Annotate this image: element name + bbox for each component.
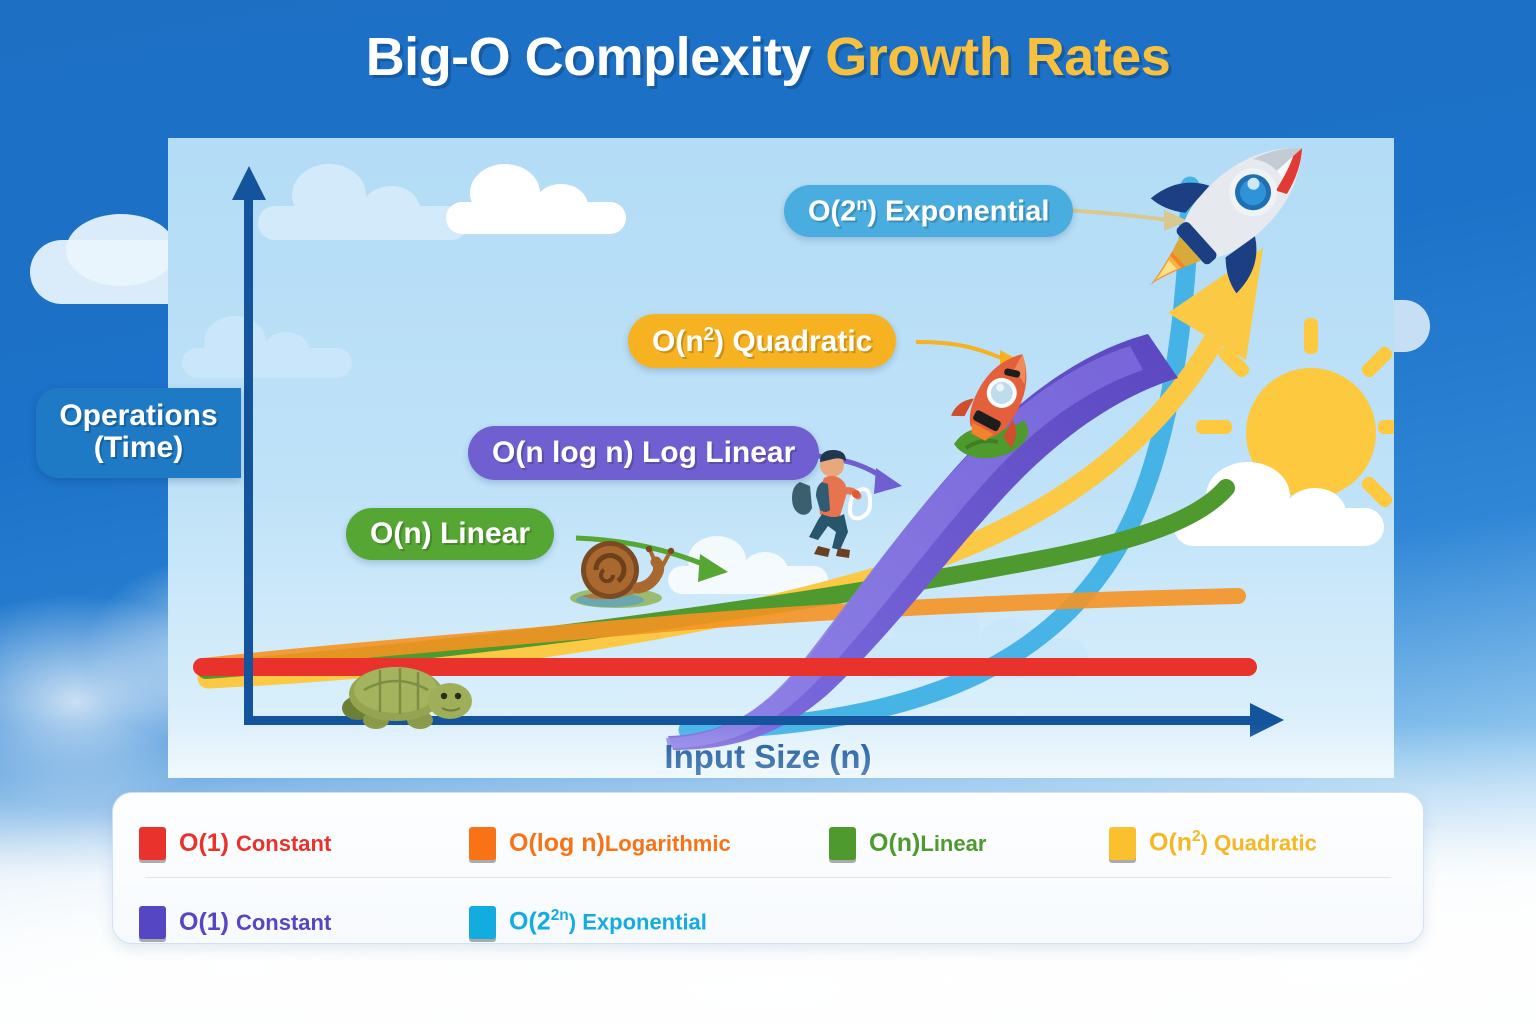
infographic-root: Big-O Complexity Growth Rates (0, 0, 1536, 1024)
legend-swatch-constant-purple (139, 906, 166, 939)
chart-panel: O(2n) Exponential O(n2) Quadratic O(n lo… (168, 138, 1394, 778)
callout-loglinear[interactable]: O(n log n) Log Linear (468, 426, 819, 480)
legend-item-constant-red[interactable]: O(1) Constant (139, 827, 469, 860)
legend-item-exponential[interactable]: O(22n) Exponential (469, 906, 707, 939)
legend-swatch-logarithmic (469, 827, 496, 860)
legend-item-constant-purple[interactable]: O(1) Constant (139, 906, 469, 939)
legend-row: O(1) Constant O(22n) Exponential (139, 894, 1397, 950)
title-main: Big-O Complexity (366, 27, 826, 87)
legend-swatch-constant-red (139, 827, 166, 860)
legend-label-exponential: O(22n) Exponential (509, 907, 707, 936)
legend-item-linear[interactable]: O(n)Linear (829, 827, 1109, 860)
legend-swatch-exponential (469, 906, 496, 939)
legend-swatch-quadratic (1109, 827, 1136, 860)
snail-icon (564, 530, 690, 610)
legend-swatch-linear (829, 827, 856, 860)
legend-label-linear: O(n)Linear (869, 829, 986, 858)
legend-item-quadratic[interactable]: O(n2) Quadratic (1109, 827, 1317, 860)
callout-quadratic-label: O(n2) Quadratic (652, 323, 872, 359)
up-arrow-icon (232, 166, 266, 200)
x-axis-label: Input Size (n) (0, 738, 1536, 776)
small-rocket-icon (936, 340, 1060, 464)
legend-label-quadratic: O(n2) Quadratic (1149, 828, 1317, 857)
background-cloud (66, 214, 176, 286)
callout-linear-label: O(n) Linear (370, 517, 530, 551)
legend-label-logarithmic: O(log n)Logarithmic (509, 829, 731, 858)
legend-panel: O(1) Constant O(log n)Logarithmic O(n)Li… (112, 792, 1424, 944)
legend-divider (145, 877, 1391, 878)
callout-loglinear-label: O(n log n) Log Linear (492, 436, 795, 470)
y-axis-label-line2: (Time) (54, 432, 223, 464)
legend-label-constant-purple: O(1) Constant (179, 908, 331, 937)
page-title: Big-O Complexity Growth Rates (0, 26, 1536, 88)
legend-item-logarithmic[interactable]: O(log n)Logarithmic (469, 827, 829, 860)
right-arrow-icon (1250, 703, 1284, 737)
y-axis-label-line1: Operations (54, 400, 223, 432)
legend-label-constant-red: O(1) Constant (179, 829, 331, 858)
callout-linear[interactable]: O(n) Linear (346, 508, 554, 560)
turtle-icon (328, 654, 478, 730)
title-accent: Growth Rates (825, 27, 1170, 87)
callout-exponential-label: O(2n) Exponential (808, 194, 1049, 229)
rocket-icon (1120, 138, 1340, 328)
legend-row: O(1) Constant O(log n)Logarithmic O(n)Li… (139, 815, 1397, 871)
callout-quadratic[interactable]: O(n2) Quadratic (628, 314, 896, 368)
y-axis-line (244, 196, 253, 724)
callout-exponential[interactable]: O(2n) Exponential (784, 185, 1073, 237)
y-axis-label: Operations (Time) (36, 388, 241, 478)
